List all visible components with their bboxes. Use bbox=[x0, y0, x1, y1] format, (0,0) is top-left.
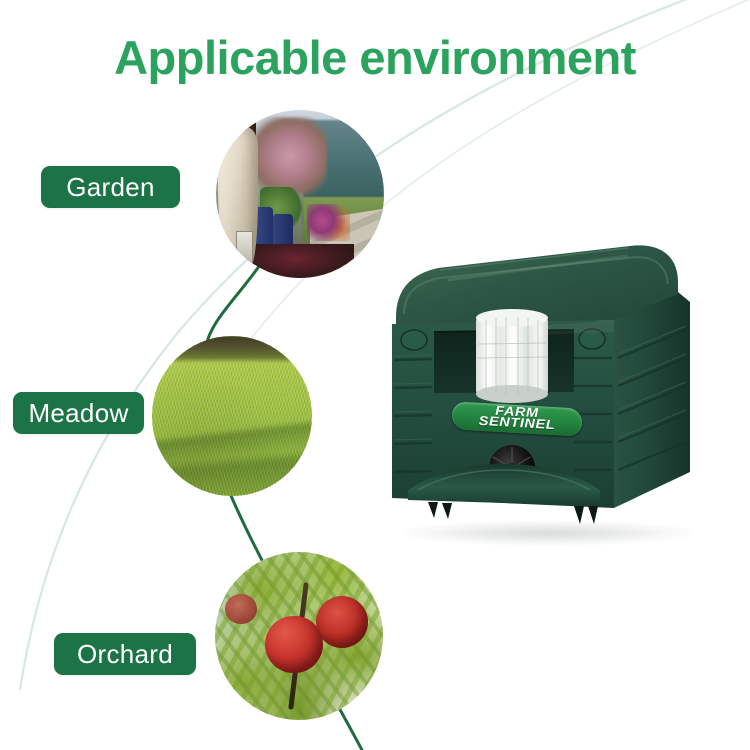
page-title: Applicable environment bbox=[0, 30, 750, 85]
pir-sensor-dome bbox=[476, 309, 548, 403]
label-chip-orchard[interactable]: Orchard bbox=[54, 633, 196, 675]
label-chip-garden[interactable]: Garden bbox=[41, 166, 180, 208]
product-device: FARM SENTINEL bbox=[378, 240, 698, 540]
screw-boss-left bbox=[401, 330, 427, 350]
chip-label-orchard: Orchard bbox=[77, 639, 173, 670]
product-infographic: Applicable environment Garden bbox=[0, 0, 750, 750]
photo-circle-meadow bbox=[152, 336, 312, 496]
chip-label-garden: Garden bbox=[66, 172, 155, 203]
photo-circle-garden bbox=[216, 110, 384, 278]
device-right-side bbox=[614, 292, 690, 508]
chip-label-meadow: Meadow bbox=[28, 398, 128, 429]
label-chip-meadow[interactable]: Meadow bbox=[13, 392, 144, 434]
photo-circle-orchard bbox=[215, 552, 383, 720]
